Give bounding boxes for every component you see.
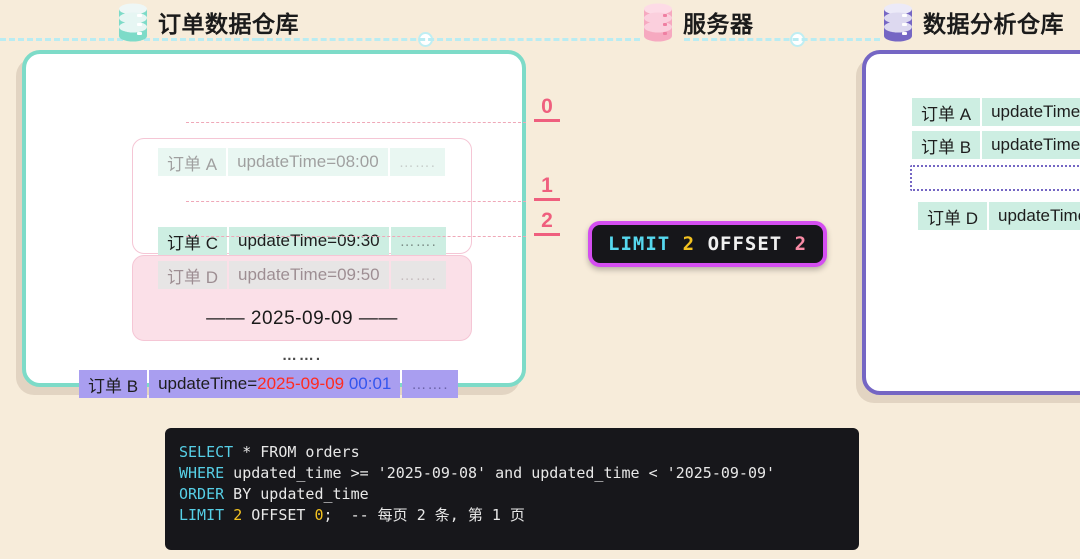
order-time: updateTime=09:30 [229, 227, 389, 255]
limit-keyword: LIMIT [608, 233, 670, 255]
sql-limit-value: 2 [233, 506, 242, 524]
node-label: 订单数据仓库 [158, 5, 299, 39]
sql-keyword: SELECT [179, 443, 233, 461]
order-time: updateTime=00:01 [982, 131, 1080, 159]
leader-line-1 [186, 201, 526, 202]
order-row[interactable]: 订单 A updateTime=08:00 [912, 98, 1080, 126]
order-time: updateTime=08:00 [228, 148, 388, 176]
order-name: 订单 A [912, 98, 980, 126]
database-icon [116, 2, 150, 42]
order-row[interactable]: 订单 A updateTime=08:00 ……. [158, 148, 445, 176]
order-time-prefix: updateTime= [158, 374, 257, 394]
limit-offset-chip[interactable]: LIMIT 2 OFFSET 2 [588, 221, 827, 267]
connector-mid [258, 38, 640, 41]
sql-line-2: updated_time >= '2025-09-08' and updated… [224, 464, 775, 482]
sql-keyword: WHERE [179, 464, 224, 482]
missing-row-placeholder [910, 165, 1080, 191]
order-date-value: 2025-09-09 [257, 374, 344, 394]
database-icon [881, 2, 915, 42]
order-row[interactable]: 订单 C updateTime=09:30 ……. [158, 227, 446, 255]
database-icon [641, 2, 675, 42]
date-separator: —— 2025-09-09 —— [133, 308, 471, 330]
index-marker: 1 [534, 175, 560, 201]
index-marker: 2 [534, 210, 560, 236]
node-label: 服务器 [683, 5, 754, 39]
order-time: updateTime=09:50 [229, 261, 389, 289]
diagram-header: 订单数据仓库 服务器 [0, 0, 1080, 46]
offset-keyword: OFFSET [708, 233, 783, 255]
order-name: 订单 B [912, 131, 980, 159]
sql-keyword: ORDER [179, 485, 224, 503]
order-row[interactable]: 订单 D updateTime=09:50 [918, 202, 1080, 230]
leader-line-0 [186, 122, 526, 123]
order-dots: ……. [391, 261, 446, 289]
order-row[interactable]: 订单 B updateTime=00:01 [912, 131, 1080, 159]
order-dots: ……. [390, 148, 445, 176]
sql-offset-keyword: OFFSET [242, 506, 314, 524]
order-time: updateTime=08:00 [982, 98, 1080, 126]
highlight-order-row[interactable]: 订单 B updateTime=2025-09-09 00:01 ……. [79, 370, 458, 398]
sql-offset-value: 0 [314, 506, 323, 524]
order-name: 订单 B [79, 370, 147, 398]
node-source-warehouse[interactable]: 订单数据仓库 [116, 2, 299, 42]
sql-line-1: * FROM orders [233, 443, 359, 461]
order-time-value: 00:01 [349, 374, 392, 394]
order-name: 订单 D [158, 261, 227, 289]
sql-keyword: LIMIT [179, 506, 224, 524]
index-marker: 0 [534, 96, 560, 122]
order-time: updateTime=09:50 [989, 202, 1080, 230]
order-name: 订单 C [158, 227, 227, 255]
node-label: 数据分析仓库 [923, 5, 1064, 39]
sql-line-3: BY updated_time [224, 485, 369, 503]
limit-value: 2 [683, 233, 695, 255]
order-row[interactable]: 订单 D updateTime=09:50 ……. [158, 261, 446, 289]
order-name: 订单 D [918, 202, 987, 230]
analytics-warehouse-panel: 订单 A updateTime=08:00 订单 B updateTime=00… [862, 50, 1080, 395]
order-time: updateTime=2025-09-09 00:01 [149, 370, 400, 398]
leader-line-2 [186, 236, 526, 237]
row-ellipsis: ……. [132, 347, 472, 364]
order-name: 订单 A [158, 148, 226, 176]
sql-comment: ; -- 每页 2 条, 第 1 页 [324, 506, 525, 524]
order-dots: ……. [402, 370, 457, 398]
source-warehouse-panel: —— 2025-09-09 —— 订单 A updateTime=08:00 …… [22, 50, 526, 387]
node-server[interactable]: 服务器 [641, 2, 754, 42]
order-dots: ……. [391, 227, 446, 255]
node-analytics-warehouse[interactable]: 数据分析仓库 [881, 2, 1064, 42]
offset-value: 2 [795, 233, 807, 255]
sql-code-block[interactable]: SELECT * FROM orders WHERE updated_time … [165, 428, 859, 550]
